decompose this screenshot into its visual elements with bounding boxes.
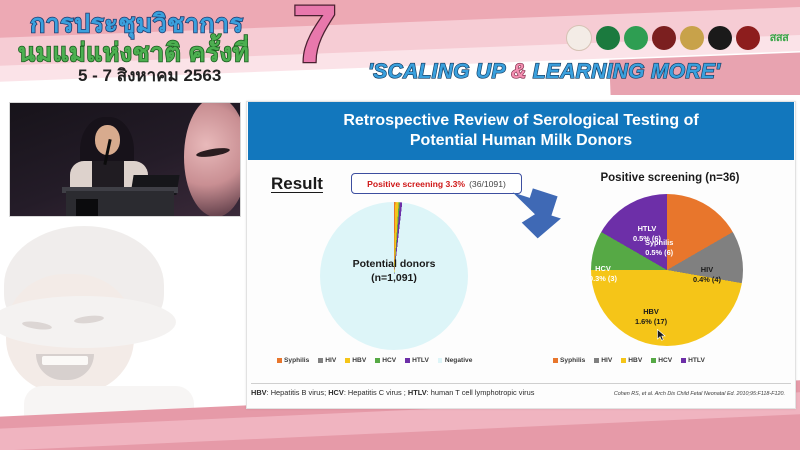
abbrev-htlv-text: : human T cell lymphotropic virus [427, 388, 535, 397]
legend-label-hiv-2: HIV [601, 357, 612, 364]
baby-teeth [42, 356, 88, 365]
slice-syphilis-value: 0.5% (6) [645, 248, 673, 258]
slide-title: Retrospective Review of Serological Test… [248, 102, 794, 160]
tagline-part1: 'SCALING UP [368, 60, 511, 83]
potential-donors-pie-label: Potential donors (n=1,091) [320, 257, 468, 285]
slice-hcv-name: HCV [589, 264, 617, 274]
abbrev-hbv-text: : Hepatitis B virus; [267, 388, 329, 397]
legend-swatch-hiv [318, 358, 323, 363]
legend-label-hcv: HCV [382, 357, 396, 364]
pie-slice-label-hbv: HBV 1.6% (17) [635, 307, 667, 326]
legend-label-negative: Negative [445, 357, 473, 364]
conference-date: 5 - 7 สิงหาคม 2563 [78, 62, 221, 89]
legend-item-syphilis-2: Syphilis [553, 357, 585, 364]
callout-highlight-text: Positive screening 3.3% [367, 179, 465, 189]
legend-swatch-syphilis [277, 358, 282, 363]
legend-label-hcv-2: HCV [658, 357, 672, 364]
slide-title-line1: Retrospective Review of Serological Test… [343, 111, 698, 131]
positive-screening-legend: Syphilis HIV HBV HCV HTLV [553, 357, 705, 364]
logo-black-emblem-icon [708, 26, 732, 50]
tagline-ampersand: & [511, 60, 526, 83]
slice-hbv-value: 1.6% (17) [635, 317, 667, 327]
logo-royal-seal-icon [566, 25, 592, 51]
legend-label-hiv: HIV [325, 357, 336, 364]
legend-item-hcv-2: HCV [651, 357, 672, 364]
slice-hcv-value: 0.3% (3) [589, 274, 617, 284]
legend-label-hbv-2: HBV [628, 357, 642, 364]
slide-footnote: HBV: Hepatitis B virus; HCV: Hepatitis C… [251, 383, 791, 397]
slice-hiv-value: 0.4% (4) [693, 275, 721, 285]
legend-label-htlv-2: HTLV [688, 357, 705, 364]
logo-thaihealth-icon: สสส [764, 26, 794, 50]
logo-red-emblem-icon [736, 26, 760, 50]
legend-label-syphilis-2: Syphilis [560, 357, 585, 364]
conference-edition-number: 7 [292, 0, 338, 76]
callout-detail-text: (36/1091) [469, 179, 506, 189]
legend-swatch-negative [438, 358, 443, 363]
positive-screening-pie-title: Positive screening (n=36) [565, 172, 775, 184]
legend-item-htlv-2: HTLV [681, 357, 705, 364]
legend-item-negative: Negative [438, 357, 473, 364]
speaker-video-thumbnail[interactable] [9, 102, 241, 217]
presentation-slide: Retrospective Review of Serological Test… [246, 101, 796, 409]
legend-label-hbv: HBV [352, 357, 366, 364]
slice-hbv-name: HBV [635, 307, 667, 317]
abbrev-hcv: HCV [328, 388, 344, 397]
legend-item-hiv: HIV [318, 357, 336, 364]
abbrev-hbv: HBV [251, 388, 267, 397]
legend-swatch-syphilis-2 [553, 358, 558, 363]
pie-slice-label-hcv: HCV 0.3% (3) [589, 264, 617, 283]
video-baby-face-overlay [184, 102, 241, 217]
legend-swatch-htlv [405, 358, 410, 363]
blue-arrow-icon [505, 188, 563, 242]
mouse-cursor-icon [657, 329, 666, 341]
slice-htlv-value: 0.5% (6) [633, 234, 661, 244]
legend-item-hcv: HCV [375, 357, 396, 364]
positive-screening-callout: Positive screening 3.3% (36/1091) [351, 173, 522, 194]
tagline-part2: LEARNING MORE' [527, 60, 721, 83]
legend-item-hiv-2: HIV [594, 357, 612, 364]
conference-tagline: 'SCALING UP & LEARNING MORE' [368, 60, 720, 84]
thaihealth-text: สสส [770, 33, 789, 44]
legend-swatch-hcv-2 [651, 358, 656, 363]
legend-item-syphilis: Syphilis [277, 357, 309, 364]
screenshot-stage: การประชุมวิชาการ นมแม่แห่งชาติ ครั้งที่ … [0, 0, 800, 450]
logo-green-circle-2-icon [624, 26, 648, 50]
legend-swatch-htlv-2 [681, 358, 686, 363]
potential-donors-label-line1: Potential donors [320, 257, 468, 271]
potential-donors-legend: Syphilis HIV HBV HCV HTLV Negative [277, 357, 472, 364]
abbrev-htlv: HTLV [408, 388, 427, 397]
slide-title-line2: Potential Human Milk Donors [410, 131, 632, 151]
abbreviation-definitions: HBV: Hepatitis B virus; HCV: Hepatitis C… [251, 388, 534, 397]
sponsor-logos-row: สสส [566, 25, 794, 51]
legend-swatch-hiv-2 [594, 358, 599, 363]
legend-swatch-hbv [345, 358, 350, 363]
abbrev-hcv-text: : Hepatitis C virus ; [344, 388, 408, 397]
legend-swatch-hbv-2 [621, 358, 626, 363]
pie-slice-label-htlv: HTLV 0.5% (6) [633, 224, 661, 243]
result-heading: Result [271, 174, 323, 194]
legend-label-syphilis: Syphilis [284, 357, 309, 364]
podium-panel [76, 199, 98, 216]
legend-item-htlv: HTLV [405, 357, 429, 364]
legend-swatch-hcv [375, 358, 380, 363]
source-citation: Cohen RS, et al. Arch Dis Child Fetal Ne… [614, 391, 791, 397]
logo-green-circle-1-icon [596, 26, 620, 50]
slice-hiv-name: HIV [693, 265, 721, 275]
potential-donors-label-line2: (n=1,091) [320, 271, 468, 285]
pie-slice-label-hiv: HIV 0.4% (4) [693, 265, 721, 284]
legend-label-htlv: HTLV [412, 357, 429, 364]
legend-item-hbv: HBV [345, 357, 366, 364]
slice-htlv-name: HTLV [633, 224, 661, 234]
logo-gold-emblem-icon [680, 26, 704, 50]
logo-ministry-health-icon [652, 26, 676, 50]
baby-watermark-image [0, 218, 238, 418]
conference-header-banner: การประชุมวิชาการ นมแม่แห่งชาติ ครั้งที่ … [0, 0, 800, 95]
legend-item-hbv-2: HBV [621, 357, 642, 364]
